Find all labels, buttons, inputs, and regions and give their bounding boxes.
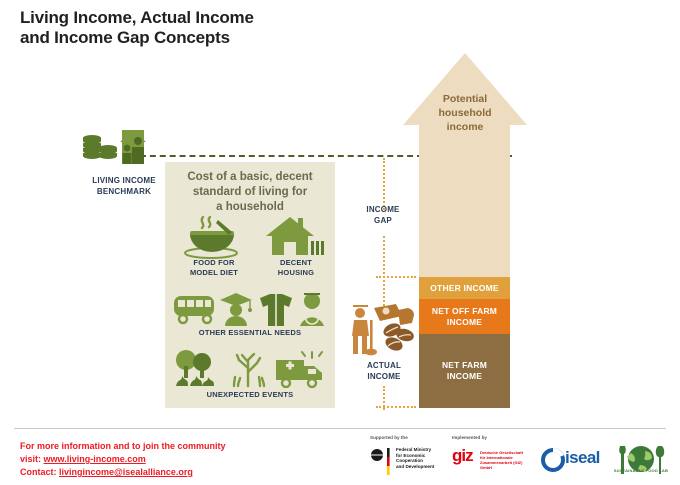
income-gap-label: INCOME GAP [346,204,420,226]
email-link[interactable]: livingincome@isealalliance.org [59,467,193,477]
doctor-icon [300,291,324,326]
footer-visit-row: visit: www.living-income.com [20,453,320,466]
implemented-by-label: Implemented by [452,435,487,440]
income-gap-dotted-line-top [383,158,385,210]
actual-income-top-dotted-connector [376,276,416,278]
footer-contact-label: Contact: [20,467,57,477]
caption-other-essential-needs: OTHER ESSENTIAL NEEDS [170,328,330,338]
supported-by-label: Supported by the [370,435,408,440]
stack-segment-net-farm-income: NET FARM INCOME [419,334,510,408]
cost-panel-heading: Cost of a basic, decent standard of livi… [170,170,330,215]
iseal-logo-wordmark: iseal [565,448,600,468]
other-essential-needs-icons [172,290,330,328]
footer-contact-block: For more information and to join the com… [20,440,320,479]
ambulance-icon [276,352,322,387]
website-link[interactable]: www.living-income.com [44,454,146,464]
stack-segment-net-off-farm-income: NET OFF FARM INCOME [419,299,510,334]
bmz-logo-text: Federal Ministry for Economic Cooperatio… [396,447,452,469]
house-icon [262,214,324,260]
footer-contact-row: Contact: livingincome@isealalliance.org [20,466,320,479]
caption-food-for-model-diet: FOOD FOR MODEL DIET [170,258,258,278]
graduate-icon [220,293,252,326]
footer-visit-label: visit: [20,454,41,464]
coins-house-family-icon [82,128,166,166]
footer-line-1: For more information and to join the com… [20,440,320,453]
actual-income-bottom-dotted-connector [376,406,416,408]
giz-logo-wordmark: giz [452,446,473,465]
sustainable-food-lab-label: SUSTAINABLE FOOD LAB [608,468,674,473]
giz-logo-subtext: Deutsche Gesellschaft für Internationale… [480,450,532,470]
unexpected-events-icons [172,348,330,388]
soup-bowl-icon [178,214,250,260]
shirt-icon [260,294,292,326]
potential-income-arrow-body [419,124,510,278]
living-income-benchmark-label: LIVING INCOME BENCHMARK [70,175,178,197]
burning-trees-icon [176,350,214,386]
dead-tree-icon [234,354,264,386]
footer-divider [14,428,666,429]
caption-unexpected-events: UNEXPECTED EVENTS [170,390,330,400]
potential-household-income-label: Potential household income [421,92,509,134]
stack-segment-other-income: OTHER INCOME [419,277,510,299]
farmer-money-coffee-beans-icon [348,300,420,356]
actual-income-label: ACTUAL INCOME [344,360,424,382]
page-title: Living Income, Actual Income and Income … [20,8,440,48]
bus-icon [174,296,214,323]
caption-decent-housing: DECENT HOUSING [258,258,334,278]
